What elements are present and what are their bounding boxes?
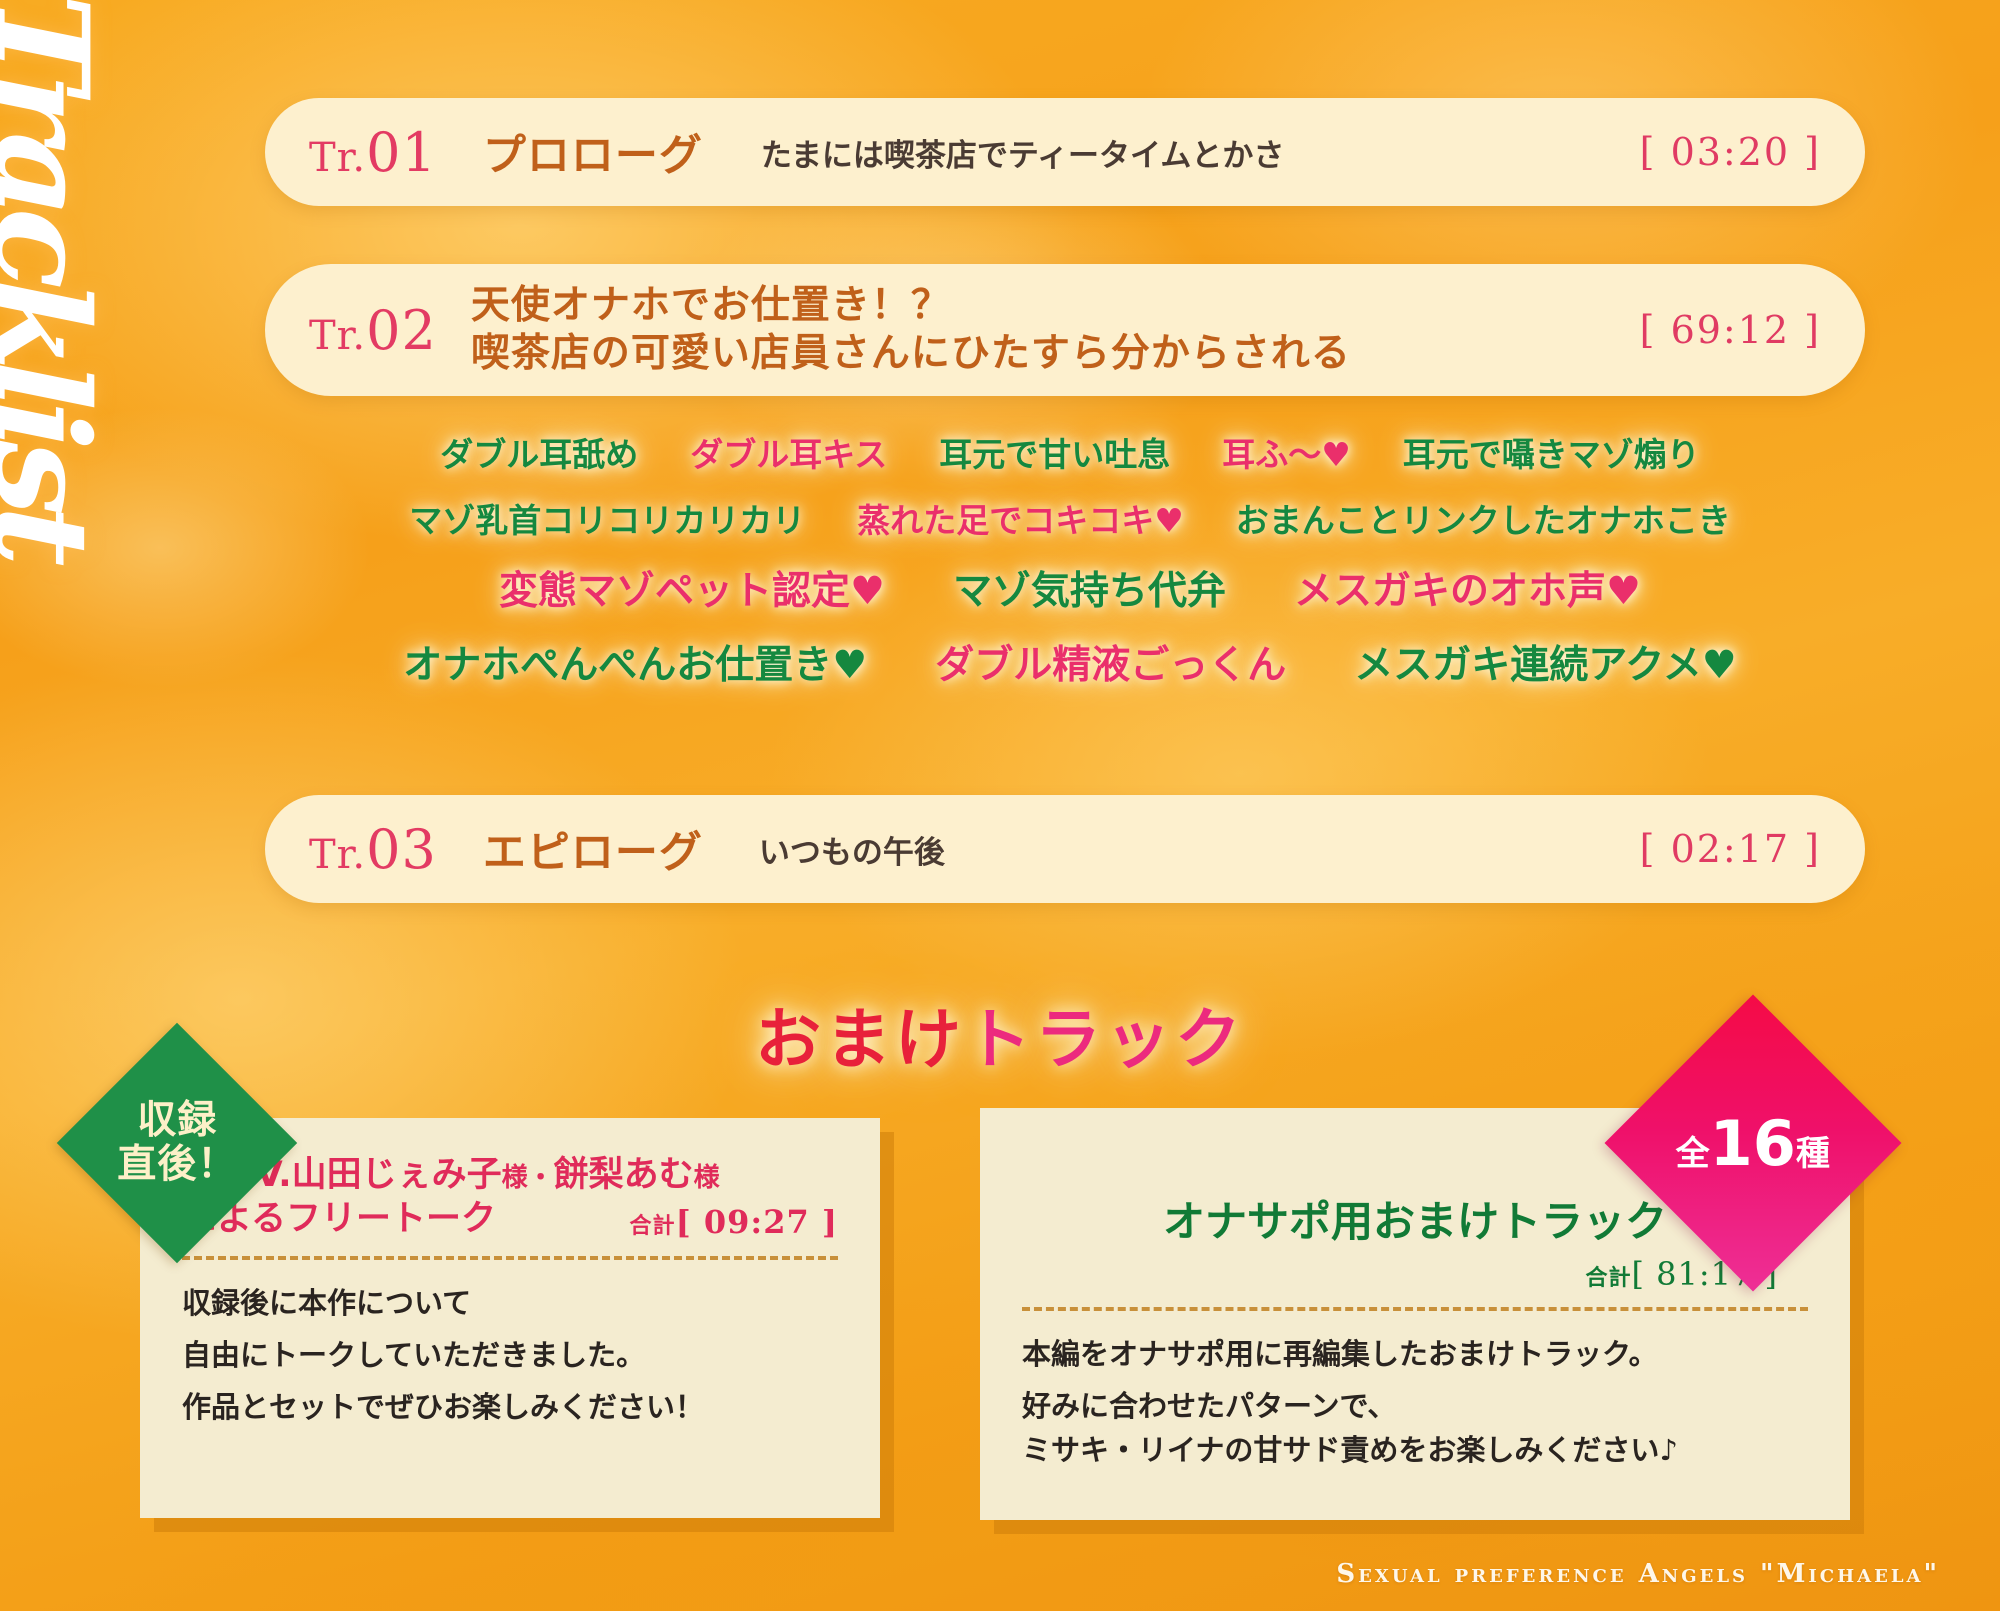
track-number-2: Tr.02 bbox=[309, 299, 437, 362]
footer-brand: Sexual preference Angels "Michaela" bbox=[1336, 1559, 1940, 1589]
bonus-card-free-talk-body: 収録後に本作について 自由にトークしていただきました。 作品とセットでぜひお楽し… bbox=[182, 1282, 838, 1428]
tag-row-2: マゾ乳首コリコリカリカリ 蒸れた足でコキコキ♥ おまんことリンクしたオナホこき bbox=[300, 494, 1840, 542]
cv-separator: ・ bbox=[528, 1163, 554, 1193]
track-number-prefix-2: Tr. bbox=[309, 313, 366, 359]
tag-item: メスガキのオホ声♥ bbox=[1294, 560, 1641, 616]
track-title-2-line2: 喫茶店の可愛い店員さんにひたすら分からされる bbox=[471, 330, 1351, 378]
track-title-2-line1: 天使オナホでお仕置き！？ bbox=[471, 282, 1351, 330]
track-number-digits-2: 02 bbox=[366, 299, 437, 362]
bonus-card-onasapo-body: 本編をオナサポ用に再編集したおまけトラック。 好みに合わせたパターンで、 ミサキ… bbox=[1022, 1333, 1808, 1471]
bonus-body-line: 作品とセットでぜひお楽しみください！ bbox=[182, 1386, 838, 1428]
cv-honorific-2: 様 bbox=[694, 1163, 720, 1193]
track-number-digits-1: 01 bbox=[366, 121, 437, 184]
track-number-prefix-3: Tr. bbox=[309, 832, 366, 878]
bonus-body-line: 自由にトークしていただきました。 bbox=[182, 1334, 838, 1376]
tag-item: 耳元で囁きマゾ煽り bbox=[1403, 428, 1700, 476]
bonus-body-line: 収録後に本作について bbox=[182, 1282, 838, 1324]
tag-item: マゾ気持ち代弁 bbox=[953, 560, 1226, 616]
badge-just-recorded-line2: 直後！ bbox=[117, 1143, 237, 1187]
bonus-card-onasapo-divider bbox=[1022, 1307, 1808, 1311]
tag-cloud: ダブル耳舐め ダブル耳キス 耳元で甘い吐息 耳ふ〜♥ 耳元で囁きマゾ煽り マゾ乳… bbox=[300, 428, 1840, 708]
track-number-3: Tr.03 bbox=[309, 818, 437, 881]
bonus-card-free-talk-title-line1: CV.山田じぇみ子様・餅梨あむ様 bbox=[182, 1154, 838, 1198]
tag-item: おまんことリンクしたオナホこき bbox=[1236, 494, 1731, 542]
track-row-1: Tr.01 プロローグ たまには喫茶店でティータイムとかさ [ 03:20 ] bbox=[265, 98, 1865, 206]
tag-item: マゾ乳首コリコリカリカリ bbox=[409, 494, 805, 542]
bonus-card-free-talk-total: 合計[ 09:27 ] bbox=[630, 1202, 838, 1242]
badge-just-recorded-line1: 収録 bbox=[117, 1099, 237, 1143]
badge-16-types-label: 全16種 bbox=[1676, 1107, 1830, 1180]
total-label: 合計 bbox=[1585, 1266, 1631, 1291]
tag-item: ダブル耳舐め bbox=[440, 428, 638, 476]
track-number-prefix-1: Tr. bbox=[309, 135, 366, 181]
cv-honorific-1: 様 bbox=[502, 1163, 528, 1193]
cv-name-2: 餅梨あむ bbox=[554, 1155, 694, 1195]
track-title-3: エピローグ bbox=[483, 818, 703, 880]
total-value: [ 09:27 ] bbox=[676, 1203, 838, 1241]
tag-item: 耳ふ〜♥ bbox=[1222, 428, 1351, 476]
bonus-card-onasapo-total: 合計[ 81:17 ] bbox=[1022, 1255, 1808, 1293]
bonus-body-line: ミサキ・リイナの甘サド責めをお楽しみください♪ bbox=[1022, 1429, 1808, 1471]
badge-suffix: 種 bbox=[1796, 1134, 1830, 1174]
bonus-body-line: 好みに合わせたパターンで、 bbox=[1022, 1385, 1808, 1427]
track-row-3: Tr.03 エピローグ いつもの午後 [ 02:17 ] bbox=[265, 795, 1865, 903]
track-title-1: プロローグ bbox=[483, 121, 703, 183]
tag-item: 変態マゾペット認定♥ bbox=[499, 560, 885, 616]
track-subtitle-1: たまには喫茶店でティータイムとかさ bbox=[761, 130, 1285, 175]
badge-number: 16 bbox=[1710, 1107, 1796, 1180]
bonus-card-free-talk-divider bbox=[182, 1256, 838, 1260]
badge-prefix: 全 bbox=[1676, 1134, 1710, 1174]
bonus-card-free-talk-title-row2: によるフリートーク 合計[ 09:27 ] bbox=[182, 1198, 838, 1242]
track-duration-3: [ 02:17 ] bbox=[1640, 827, 1821, 871]
track-duration-1: [ 03:20 ] bbox=[1640, 130, 1821, 174]
track-number-1: Tr.01 bbox=[309, 121, 437, 184]
omake-heading-part2: トラック bbox=[965, 1001, 1245, 1078]
tag-item: メスガキ連続アクメ♥ bbox=[1354, 634, 1736, 690]
tag-item: ダブル耳キス bbox=[690, 428, 887, 476]
bonus-card-free-talk-title: CV.山田じぇみ子様・餅梨あむ様 によるフリートーク 合計[ 09:27 ] bbox=[182, 1154, 838, 1242]
track-number-digits-3: 03 bbox=[366, 818, 437, 881]
omake-heading-part1: おまけ bbox=[755, 1001, 965, 1078]
tag-item: 耳元で甘い吐息 bbox=[939, 428, 1170, 476]
total-label: 合計 bbox=[630, 1214, 676, 1239]
track-title-2: 天使オナホでお仕置き！？ 喫茶店の可愛い店員さんにひたすら分からされる bbox=[471, 282, 1351, 377]
tag-row-4: オナホぺんぺんお仕置き♥ ダブル精液ごっくん メスガキ連続アクメ♥ bbox=[300, 634, 1840, 690]
tag-row-1: ダブル耳舐め ダブル耳キス 耳元で甘い吐息 耳ふ〜♥ 耳元で囁きマゾ煽り bbox=[300, 428, 1840, 476]
tag-item: 蒸れた足でコキコキ♥ bbox=[857, 494, 1184, 542]
track-row-2: Tr.02 天使オナホでお仕置き！？ 喫茶店の可愛い店員さんにひたすら分からされ… bbox=[265, 264, 1865, 396]
badge-just-recorded-label: 収録 直後！ bbox=[117, 1099, 237, 1186]
tag-row-3: 変態マゾペット認定♥ マゾ気持ち代弁 メスガキのオホ声♥ bbox=[300, 560, 1840, 616]
tag-item: ダブル精液ごっくん bbox=[935, 634, 1286, 690]
page-title-tracklist: Tracklist bbox=[0, 0, 96, 556]
tag-item: オナホぺんぺんお仕置き♥ bbox=[403, 634, 867, 690]
track-duration-2: [ 69:12 ] bbox=[1640, 308, 1821, 352]
track-subtitle-3: いつもの午後 bbox=[759, 827, 945, 872]
cv-name-1: 山田じぇみ子 bbox=[292, 1155, 502, 1195]
bonus-body-line: 本編をオナサポ用に再編集したおまけトラック。 bbox=[1022, 1333, 1808, 1375]
